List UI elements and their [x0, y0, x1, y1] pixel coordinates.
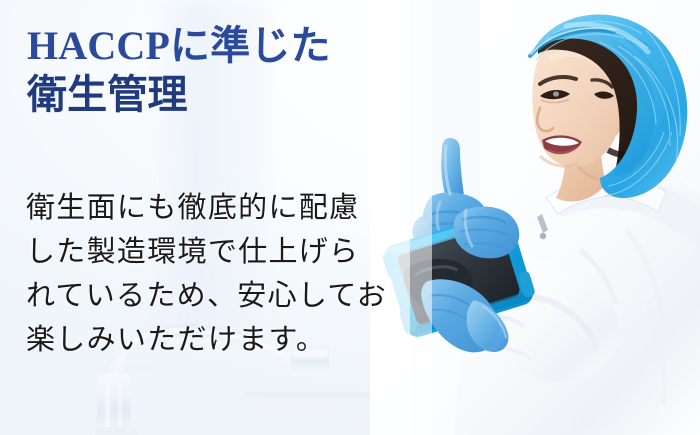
body-line: 衛生面にも徹底的に配慮 — [26, 186, 446, 230]
body-line: 楽しみいただけます。 — [26, 318, 446, 362]
body-copy: 衛生面にも徹底的に配慮 した製造環境で仕上げら れているため、安心してお 楽しみ… — [26, 186, 446, 362]
page-title: HACCPに準じた 衛生管理 — [27, 22, 331, 120]
body-line: した製造環境で仕上げら — [26, 230, 446, 274]
headline-line-2: 衛生管理 — [27, 71, 331, 120]
headline-line-1: HACCPに準じた — [27, 22, 331, 71]
haccp-hygiene-banner: HACCPに準じた 衛生管理 衛生面にも徹底的に配慮 した製造環境で仕上げら れ… — [0, 0, 700, 435]
body-line: れているため、安心してお — [26, 274, 446, 318]
